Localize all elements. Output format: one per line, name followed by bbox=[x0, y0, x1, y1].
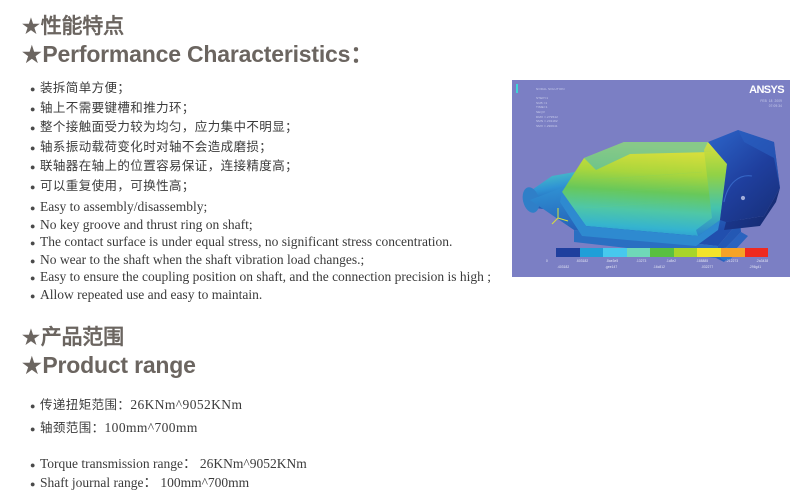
list-item-label: 装拆简单方便； bbox=[40, 80, 130, 96]
legend-tick-labels-lower: .403182 .gee147 .16c812 .032277 .296g41 bbox=[557, 265, 790, 269]
product-range-heading-block: ★产品范围 ★Product range bbox=[22, 325, 196, 379]
legend-tick: .16c812 bbox=[653, 265, 701, 269]
legend-tick-labels-upper: 0 .603182 .8ae3e5 .13273 .1c8e2 .188885 … bbox=[546, 259, 786, 263]
list-item-label: Torque transmission range： 26KNm^9052KNm bbox=[40, 455, 307, 473]
list-item-label: Allow repeated use and easy to maintain. bbox=[40, 286, 262, 303]
product-range-heading-en-text: Product range bbox=[42, 352, 195, 378]
list-item-label: Easy to ensure the coupling position on … bbox=[40, 268, 491, 285]
list-item-label: 传递扭矩范围：26KNm^9052KNm bbox=[40, 397, 242, 413]
list-item: ● Torque transmission range： 26KNm^9052K… bbox=[30, 455, 307, 473]
product-range-bullets-en: ● Torque transmission range： 26KNm^9052K… bbox=[30, 455, 307, 493]
star-icon: ★ bbox=[22, 353, 41, 380]
performance-heading-en: ★Performance Characteristics： bbox=[22, 40, 373, 69]
list-item-label: No key groove and thrust ring on shaft; bbox=[40, 216, 253, 233]
legend-band-1 bbox=[556, 248, 580, 257]
performance-heading-block: ★性能特点 ★Performance Characteristics： bbox=[22, 14, 373, 68]
legend-tick: .2a3438 bbox=[756, 259, 786, 263]
legend-tick: .032277 bbox=[701, 265, 749, 269]
performance-bullets-en: ● Easy to assembly/disassembly; ● No key… bbox=[30, 198, 491, 303]
performance-bullets-cn: ● 装拆简单方便； ● 轴上不需要键槽和推力环； ● 整个接触面受力较为均匀，应… bbox=[30, 80, 298, 197]
list-item: ● Easy to assembly/disassembly; bbox=[30, 198, 491, 215]
bullet-icon: ● bbox=[30, 480, 40, 489]
list-item: ● No key groove and thrust ring on shaft… bbox=[30, 216, 491, 233]
list-item: ● 整个接触面受力较为均匀，应力集中不明显； bbox=[30, 119, 298, 135]
bullet-icon: ● bbox=[30, 274, 40, 283]
performance-heading-cn: ★性能特点 bbox=[22, 14, 373, 40]
journal-range-label: 轴颈范围： bbox=[40, 421, 105, 435]
legend-tick: .8ae3e5 bbox=[606, 259, 636, 263]
list-item: ● 轴系振动载荷变化时对轴不会造成磨损； bbox=[30, 139, 298, 155]
bullet-icon: ● bbox=[30, 461, 40, 470]
list-item: ● 传递扭矩范围：26KNm^9052KNm bbox=[30, 397, 242, 413]
legend-tick: .403182 bbox=[557, 265, 605, 269]
bullet-icon: ● bbox=[30, 124, 40, 133]
list-item: ● 轴颈范围：100mm^700mm bbox=[30, 420, 242, 436]
list-item: ● 可以重复使用，可换性高； bbox=[30, 178, 298, 194]
legend-band-3 bbox=[603, 248, 627, 257]
legend-tick: .296g41 bbox=[749, 265, 790, 269]
list-item-label: The contact surface is under equal stres… bbox=[40, 233, 452, 250]
legend-tick: .188885 bbox=[696, 259, 726, 263]
legend-tick: 0 bbox=[546, 259, 576, 263]
performance-heading-cn-text: 性能特点 bbox=[41, 15, 124, 38]
legend-tick: .13273 bbox=[636, 259, 666, 263]
list-item: ● Easy to ensure the coupling position o… bbox=[30, 268, 491, 285]
product-range-bullets-cn: ● 传递扭矩范围：26KNm^9052KNm ● 轴颈范围：100mm^700m… bbox=[30, 397, 242, 443]
legend-band-4 bbox=[627, 248, 651, 257]
torque-range-value: 26KNm^9052KNm bbox=[130, 397, 242, 412]
bullet-icon: ● bbox=[30, 163, 40, 172]
list-item-label: No wear to the shaft when the shaft vibr… bbox=[40, 251, 364, 268]
contour-legend-bar bbox=[556, 248, 768, 257]
legend-tick: .1c8e2 bbox=[666, 259, 696, 263]
bullet-icon: ● bbox=[30, 183, 40, 192]
list-item: ● 联轴器在轴上的位置容易保证，连接精度高； bbox=[30, 158, 298, 174]
torque-range-label: 传递扭矩范围： bbox=[40, 398, 130, 412]
legend-band-7 bbox=[697, 248, 721, 257]
bullet-icon: ● bbox=[30, 85, 40, 94]
bullet-icon: ● bbox=[30, 425, 40, 434]
legend-tick: .gee147 bbox=[605, 265, 653, 269]
journal-range-value: 100mm^700mm bbox=[105, 420, 198, 435]
star-icon: ★ bbox=[22, 42, 41, 69]
ansys-fea-figure: NODAL SOLUTION STEP=1 SUB =1 TIME=1 SEQV… bbox=[512, 80, 790, 277]
bullet-icon: ● bbox=[30, 204, 40, 213]
list-item-label: 轴颈范围：100mm^700mm bbox=[40, 420, 198, 436]
bullet-icon: ● bbox=[30, 402, 40, 411]
star-icon: ★ bbox=[22, 15, 40, 39]
legend-tick: .603182 bbox=[576, 259, 606, 263]
list-item-label: 整个接触面受力较为均匀，应力集中不明显； bbox=[40, 119, 298, 135]
bullet-icon: ● bbox=[30, 239, 40, 248]
product-range-heading-en: ★Product range bbox=[22, 351, 196, 380]
bullet-icon: ● bbox=[30, 222, 40, 231]
bullet-icon: ● bbox=[30, 144, 40, 153]
legend-band-9 bbox=[745, 248, 769, 257]
list-item: ● 装拆简单方便； bbox=[30, 80, 298, 96]
legend-tick: .212273 bbox=[726, 259, 756, 263]
list-item-label: 联轴器在轴上的位置容易保证，连接精度高； bbox=[40, 158, 298, 174]
product-range-heading-cn: ★产品范围 bbox=[22, 325, 196, 351]
legend-band-6 bbox=[674, 248, 698, 257]
performance-heading-en-text: Performance Characteristics： bbox=[42, 41, 373, 67]
list-item: ● No wear to the shaft when the shaft vi… bbox=[30, 251, 491, 268]
list-item-label: 可以重复使用，可换性高； bbox=[40, 178, 195, 194]
star-icon: ★ bbox=[22, 326, 40, 350]
list-item: ● Allow repeated use and easy to maintai… bbox=[30, 286, 491, 303]
product-range-heading-cn-text: 产品范围 bbox=[41, 326, 124, 349]
legend-band-8 bbox=[721, 248, 745, 257]
list-item-label: Easy to assembly/disassembly; bbox=[40, 198, 207, 215]
list-item: ● The contact surface is under equal str… bbox=[30, 233, 491, 250]
list-item-label: 轴上不需要键槽和推力环； bbox=[40, 100, 195, 116]
bullet-icon: ● bbox=[30, 292, 40, 301]
bullet-icon: ● bbox=[30, 105, 40, 114]
list-item-label: 轴系振动载荷变化时对轴不会造成磨损； bbox=[40, 139, 272, 155]
legend-band-2 bbox=[580, 248, 604, 257]
legend-band-5 bbox=[650, 248, 674, 257]
list-item: ● 轴上不需要键槽和推力环； bbox=[30, 100, 298, 116]
bullet-icon: ● bbox=[30, 257, 40, 266]
